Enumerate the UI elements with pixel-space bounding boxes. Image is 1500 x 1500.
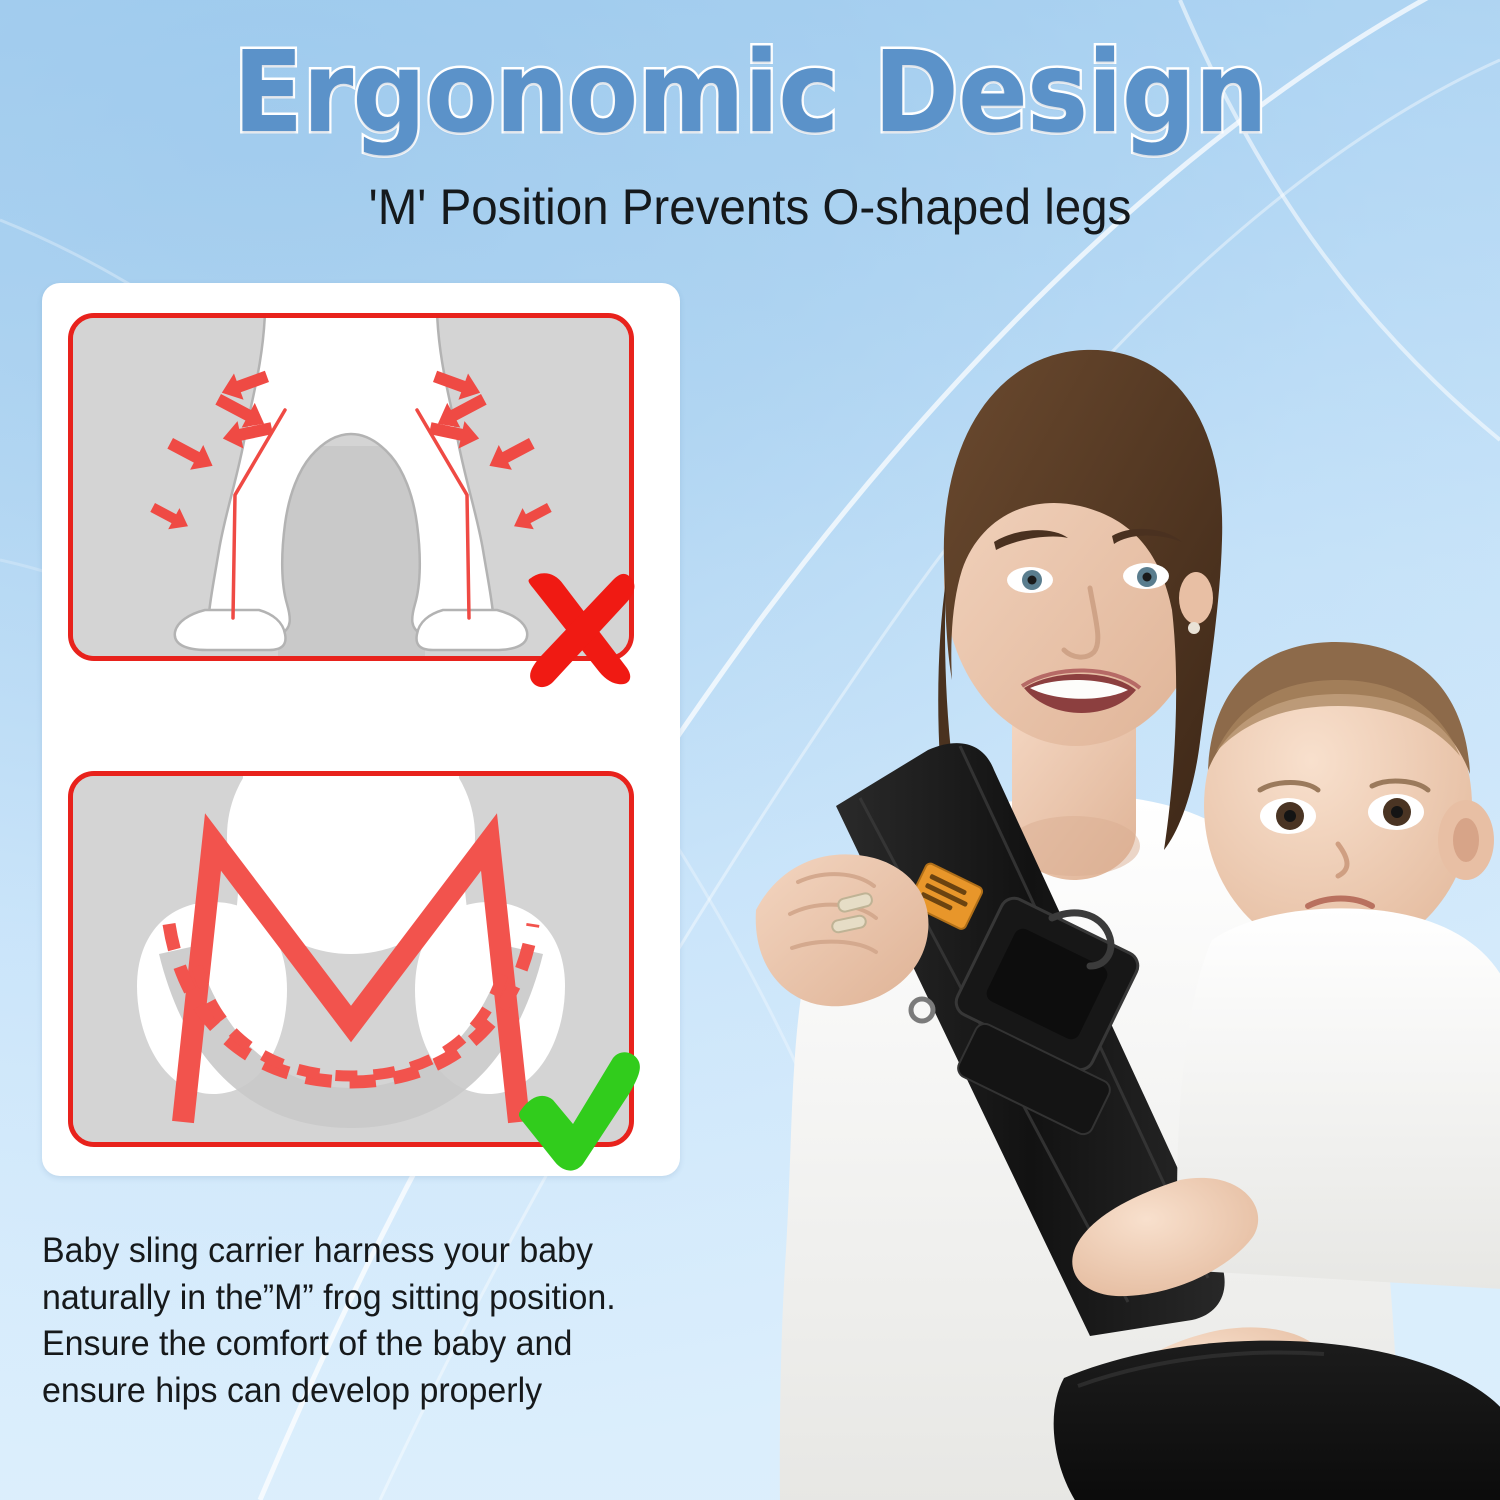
check-icon <box>517 1052 643 1172</box>
product-photo <box>660 250 1500 1500</box>
m-position-panel <box>68 771 634 1147</box>
diagram-card <box>42 283 680 1176</box>
page-subtitle: 'M' Position Prevents O-shaped legs <box>38 178 1463 236</box>
page-title: Ergonomic Design <box>60 36 1440 150</box>
description-text: Baby sling carrier harness your baby nat… <box>42 1228 673 1414</box>
infographic-canvas: Ergonomic Design 'M' Position Prevents O… <box>0 0 1500 1500</box>
carrier-sling-seat <box>1054 1341 1500 1500</box>
o-shaped-legs-panel <box>68 313 634 661</box>
x-icon <box>515 560 645 690</box>
